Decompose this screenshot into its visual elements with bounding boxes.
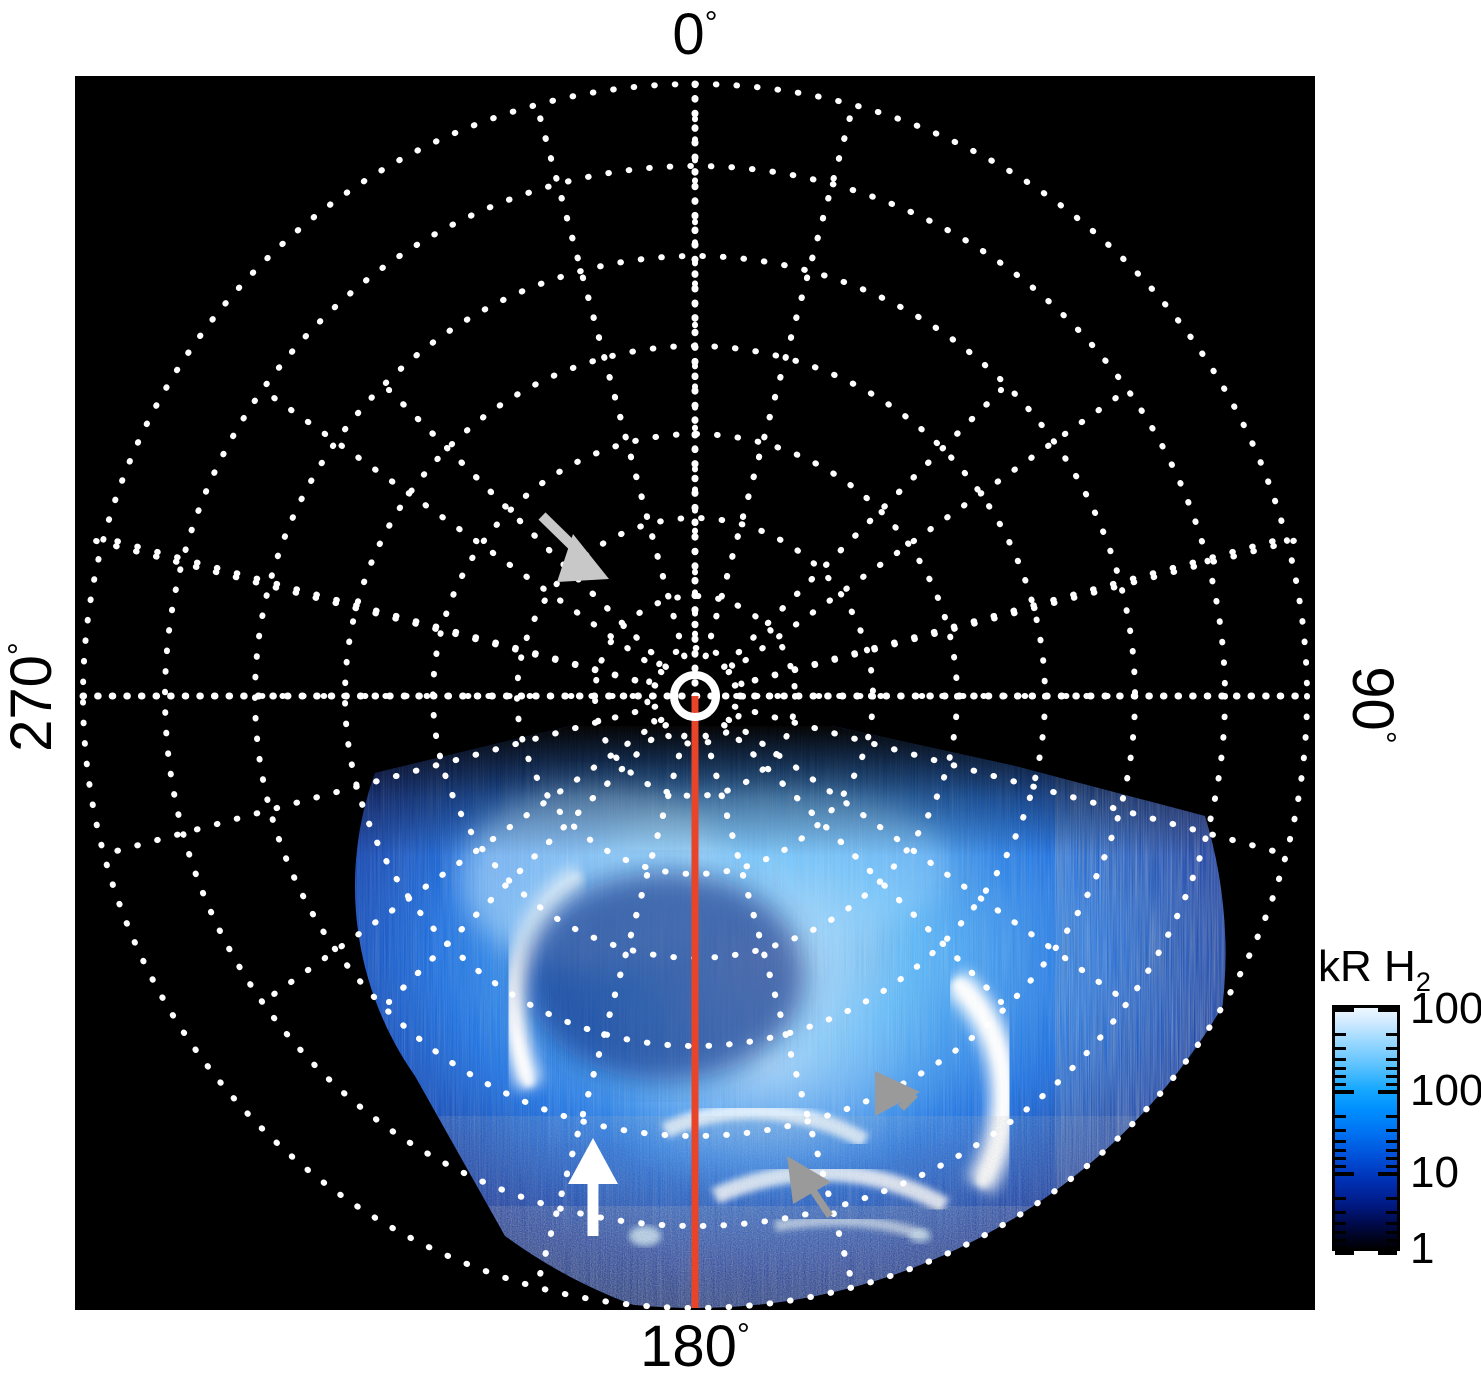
colorbar-minor-tick [1386,1075,1397,1078]
colorbar-gradient-box [1332,1005,1400,1251]
aurora-emission-data [315,726,1265,1310]
colorbar-minor-tick [1386,1067,1397,1070]
colorbar-tick-100-left [1335,1090,1354,1094]
axis-label-180deg: 180° [0,1318,1390,1376]
polar-plot-panel [75,76,1315,1310]
colorbar-minor-tick [1335,1140,1346,1143]
colorbar-minor-tick [1386,1231,1397,1234]
colorbar-minor-tick [1335,1239,1346,1242]
colorbar-tick-10-right [1378,1172,1397,1176]
colorbar-title: kR H2 [1318,945,1431,989]
colorbar-minor-tick [1335,1157,1346,1160]
colorbar-minor-tick [1335,1165,1346,1168]
axis-label-90deg: 90° [1343,615,1401,795]
colorbar-minor-tick [1386,1047,1397,1050]
colorbar-minor-tick [1335,1083,1346,1086]
colorbar-minor-tick [1335,1197,1346,1200]
colorbar: kR H2 [1318,945,1481,1325]
colorbar-tick-1-right [1378,1251,1397,1255]
colorbar-minor-tick [1335,1129,1346,1132]
colorbar-minor-tick [1386,1149,1397,1152]
colorbar-minor-tick [1386,1140,1397,1143]
colorbar-label-10: 10 [1410,1151,1459,1195]
colorbar-tick-100-right [1378,1090,1397,1094]
colorbar-minor-tick [1386,1246,1397,1249]
colorbar-minor-tick [1386,1239,1397,1242]
colorbar-minor-tick [1335,1075,1346,1078]
colorbar-minor-tick [1335,1222,1346,1225]
colorbar-minor-tick [1335,1231,1346,1234]
colorbar-minor-tick [1386,1115,1397,1118]
axis-label-270deg: 270° [3,607,61,787]
arrow-polar-dark-region-icon [542,516,609,582]
colorbar-minor-tick [1335,1115,1346,1118]
colorbar-minor-tick [1386,1083,1397,1086]
colorbar-minor-tick [1386,1129,1397,1132]
colorbar-minor-tick [1335,1033,1346,1036]
colorbar-minor-tick [1386,1222,1397,1225]
colorbar-tick-1000-left [1335,1008,1354,1012]
colorbar-minor-tick [1386,1058,1397,1061]
colorbar-minor-tick [1386,1211,1397,1214]
colorbar-label-1: 1 [1410,1227,1434,1271]
colorbar-label-1000: 1000 [1410,987,1481,1031]
polar-plot-svg [75,76,1315,1310]
colorbar-minor-tick [1335,1246,1346,1249]
colorbar-minor-tick [1335,1067,1346,1070]
colorbar-minor-tick [1335,1211,1346,1214]
figure-canvas: 0° 180° 270° 90° [0,0,1481,1386]
colorbar-label-100: 100 [1410,1069,1481,1113]
colorbar-tick-1-left [1335,1251,1354,1255]
colorbar-minor-tick [1335,1149,1346,1152]
colorbar-minor-tick [1335,1058,1346,1061]
axis-label-0deg: 0° [0,6,1390,64]
colorbar-tick-1000-right [1378,1008,1397,1012]
colorbar-minor-tick [1335,1047,1346,1050]
colorbar-minor-tick [1386,1165,1397,1168]
colorbar-tick-10-left [1335,1172,1354,1176]
colorbar-minor-tick [1386,1197,1397,1200]
colorbar-minor-tick [1386,1157,1397,1160]
colorbar-minor-tick [1386,1033,1397,1036]
